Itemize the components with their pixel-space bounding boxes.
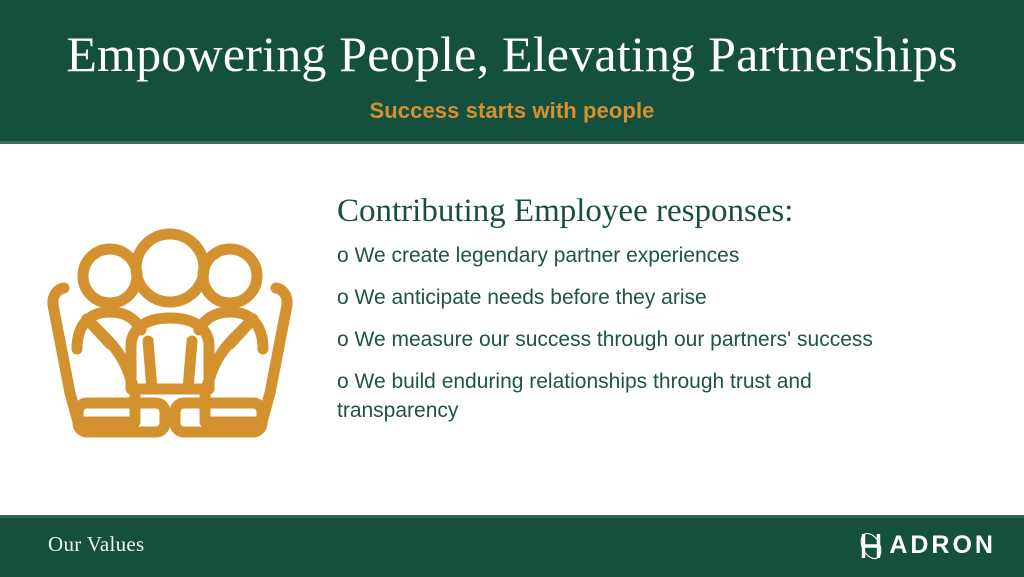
body-area: Contributing Employee responses: o We cr… bbox=[0, 144, 1024, 515]
bullet-marker: o bbox=[337, 286, 349, 309]
bullet-marker: o bbox=[337, 370, 349, 393]
slide: Empowering People, Elevating Partnership… bbox=[0, 0, 1024, 577]
footer-section-label: Our Values bbox=[48, 531, 145, 557]
responses-list: o We create legendary partner experience… bbox=[337, 241, 977, 425]
bullet-marker: o bbox=[337, 244, 349, 267]
responses-heading: Contributing Employee responses: bbox=[337, 190, 977, 232]
list-item-label: We anticipate needs before they arise bbox=[355, 286, 707, 309]
list-item-label: We measure our success through our partn… bbox=[355, 328, 873, 351]
slide-subtitle: Success starts with people bbox=[0, 97, 1024, 125]
bullet-marker: o bbox=[337, 328, 349, 351]
list-item: o We create legendary partner experience… bbox=[337, 241, 937, 270]
list-item: o We anticipate needs before they arise bbox=[337, 283, 937, 312]
footer-divider bbox=[0, 515, 1024, 518]
list-item: o We measure our success through our par… bbox=[337, 325, 937, 354]
brand-name: ADRON bbox=[889, 528, 996, 562]
hadron-atom-logo bbox=[854, 528, 888, 562]
hands-holding-people-icon bbox=[30, 226, 310, 441]
slide-title: Empowering People, Elevating Partnership… bbox=[0, 24, 1024, 84]
brand-logo: ADRON bbox=[854, 528, 996, 562]
list-item: o We build enduring relationships throug… bbox=[337, 367, 937, 425]
list-item-label: We build enduring relationships through … bbox=[337, 370, 812, 422]
responses-block: Contributing Employee responses: o We cr… bbox=[337, 190, 977, 425]
list-item-label: We create legendary partner experiences bbox=[355, 244, 740, 267]
